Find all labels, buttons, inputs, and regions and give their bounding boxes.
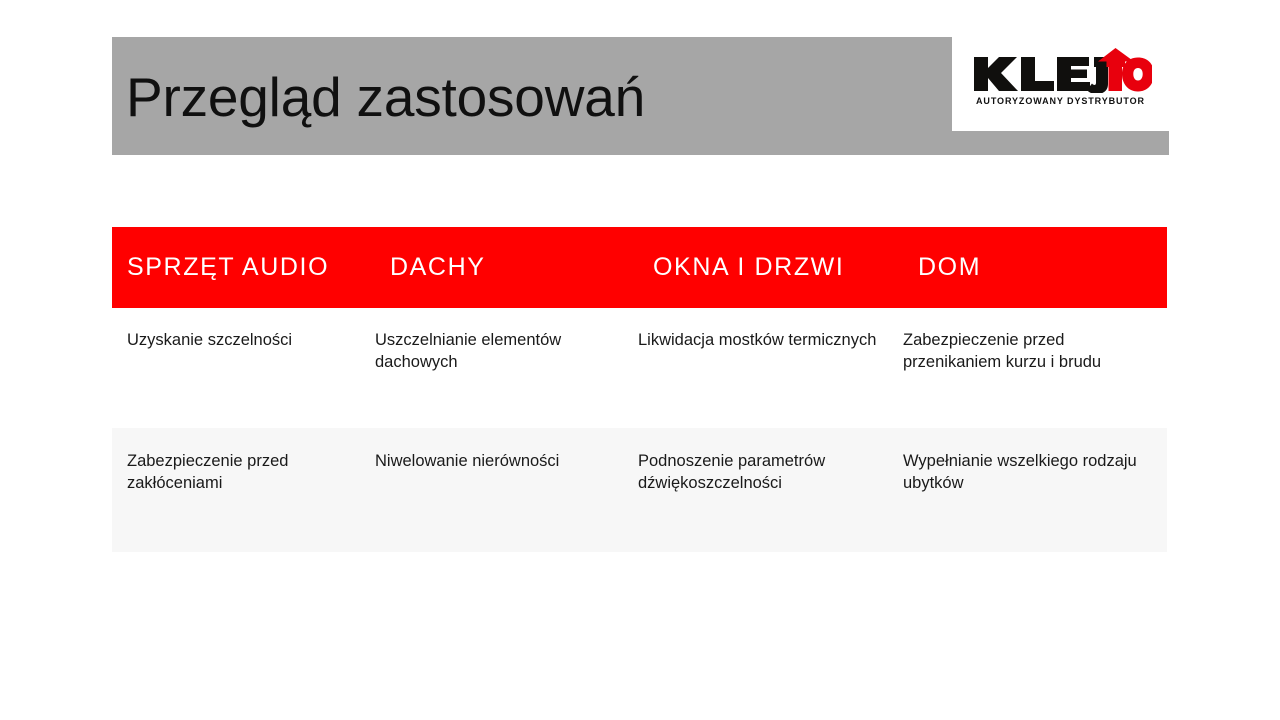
- slide-canvas: Przegląd zastosowań: [0, 0, 1280, 720]
- table-row: Uzyskanie szczelności Uszczelnianie elem…: [112, 308, 1167, 428]
- table-cell: Zabezpieczenie przed zakłóceniami: [112, 428, 375, 552]
- table-header-cell-3: DOM: [918, 253, 1167, 282]
- table-cell: Niwelowanie nierówności: [375, 428, 638, 552]
- table-cell: Zabezpieczenie przed przenikaniem kurzu …: [903, 308, 1152, 428]
- table-header-cell-2: OKNA I DRZWI: [653, 253, 918, 282]
- logo-tagline: AUTORYZOWANY DYSTRYBUTOR: [952, 96, 1169, 106]
- table-header-cell-0: SPRZĘT AUDIO: [112, 253, 390, 282]
- table-header-row: SPRZĘT AUDIO DACHY OKNA I DRZWI DOM: [112, 227, 1167, 308]
- page-title: Przegląd zastosowań: [126, 57, 946, 137]
- table-header-cell-1: DACHY: [390, 253, 653, 282]
- table-row: Zabezpieczenie przed zakłóceniami Niwelo…: [112, 428, 1167, 552]
- table-cell: Likwidacja mostków termicznych: [638, 308, 903, 428]
- logo-box: AUTORYZOWANY DYSTRYBUTOR: [952, 36, 1169, 131]
- table-cell: Wypełnianie wszelkiego rodzaju ubytków: [903, 428, 1152, 552]
- logo-wordmark-icon: [972, 47, 1152, 93]
- table-cell: Uzyskanie szczelności: [112, 308, 375, 428]
- applications-table: SPRZĘT AUDIO DACHY OKNA I DRZWI DOM Uzys…: [112, 227, 1167, 552]
- table-cell: Podnoszenie parametrów dźwiękoszczelnośc…: [638, 428, 903, 552]
- table-cell: Uszczelnianie elementów dachowych: [375, 308, 638, 428]
- klejto-logo: AUTORYZOWANY DYSTRYBUTOR: [952, 36, 1169, 131]
